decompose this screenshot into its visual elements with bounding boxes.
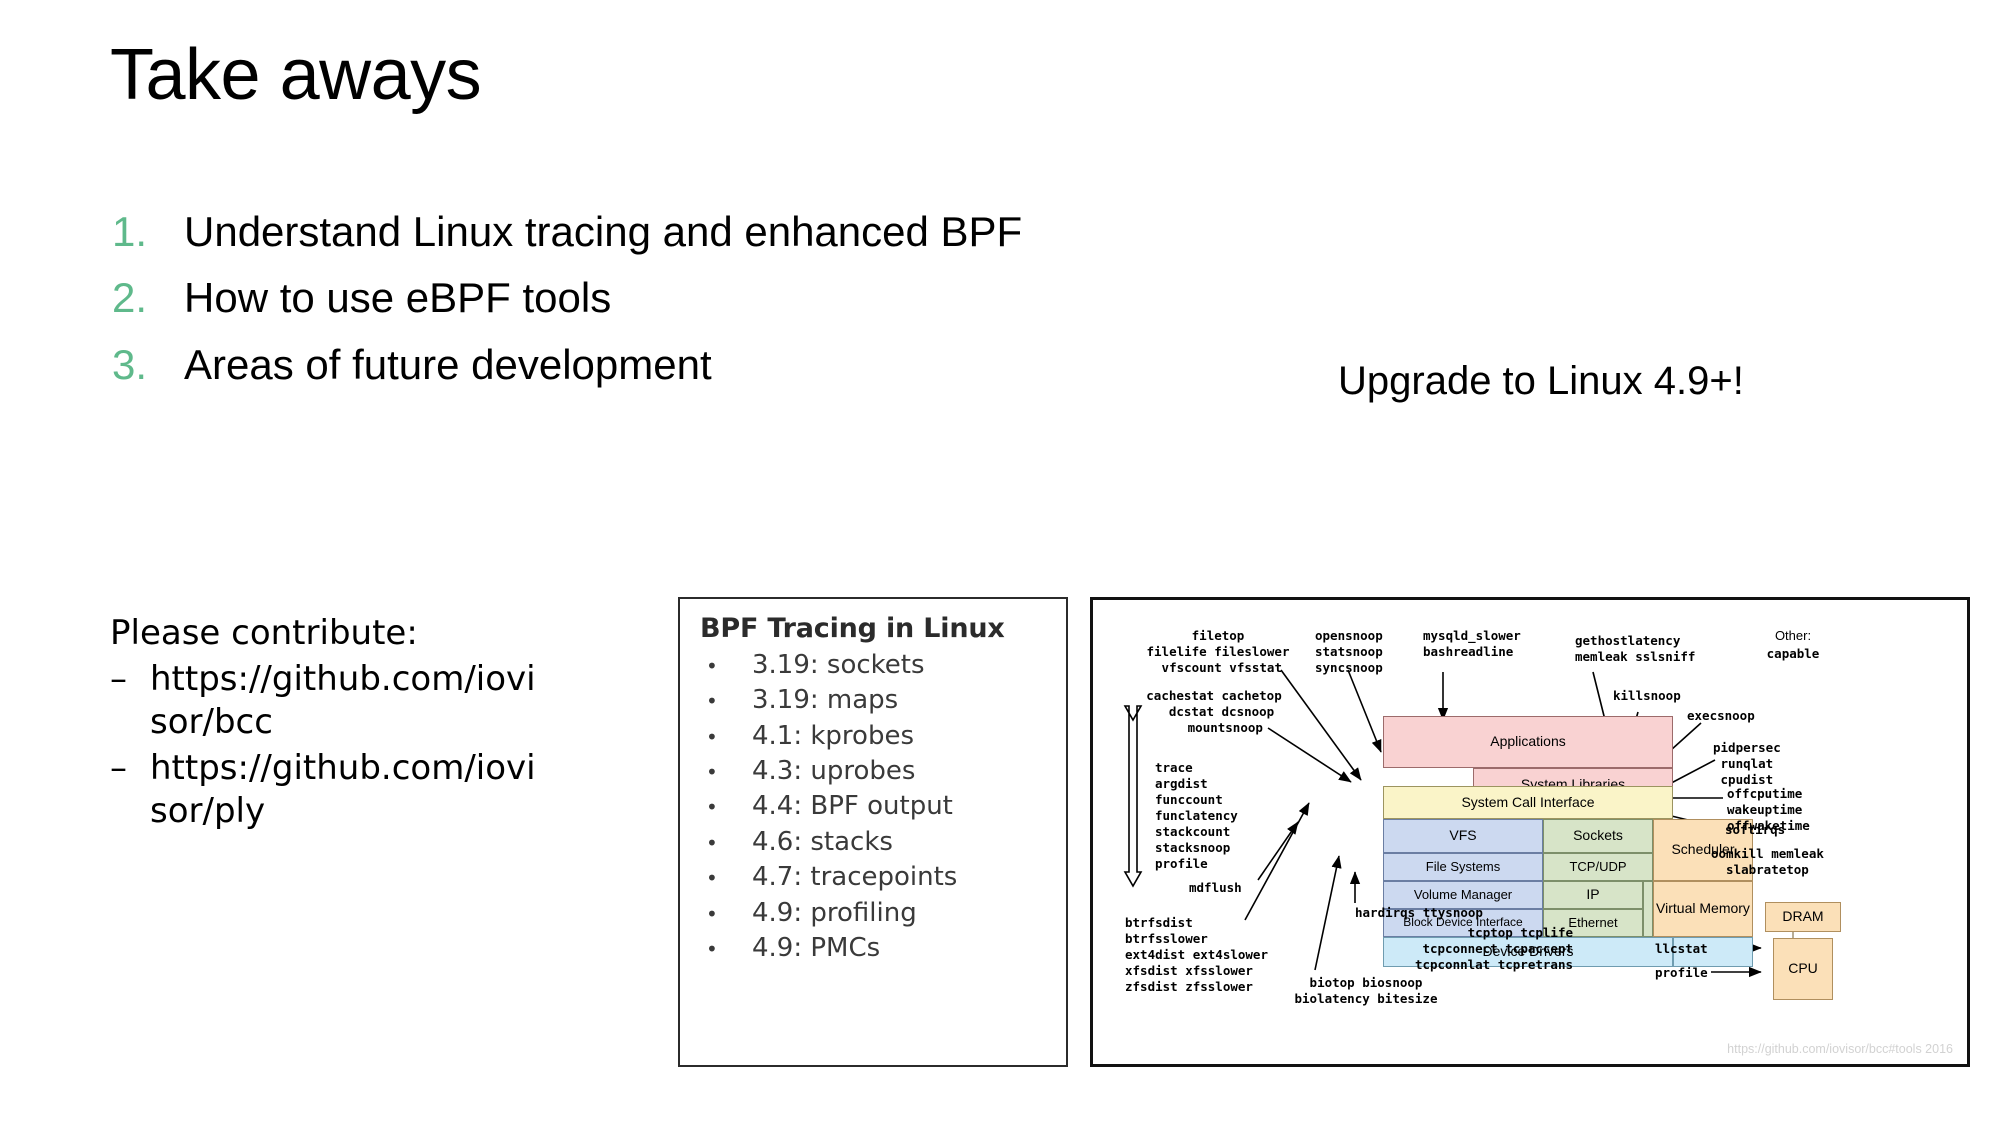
takeaway-number: 2. [112,274,184,322]
tool-group-tcp: tcptop tcplife tcpconnect tcpaccept tcpc… [1393,925,1573,973]
takeaways-list: 1. Understand Linux tracing and enhanced… [112,208,1312,407]
tool-group-filesystems: btrfsdist btrfsslower ext4dist ext4slowe… [1125,915,1268,995]
dash-bullet-icon: – [110,658,150,702]
takeaway-item: 3. Areas of future development [112,341,1312,389]
dash-bullet-icon: – [110,747,150,791]
kernel-block-sockets: Sockets [1543,819,1653,853]
contribute-block: Please contribute: – https://github.com/… [110,612,580,834]
bpf-list-item: • 4.4: BPF output [700,789,1048,824]
tool-group-scheduler: pidpersec runqlat cpudist [1713,740,1781,788]
tool-killsnoop: killsnoop [1613,688,1681,704]
tool-group-applications: mysqld_slower bashreadline [1423,628,1521,660]
bpf-list-item: • 3.19: maps [700,683,1048,718]
contribute-link[interactable]: https://github.com/iovisor/bcc [150,658,550,745]
tool-execsnoop: execsnoop [1687,708,1755,724]
kernel-block-tcp-udp: TCP/UDP [1543,853,1653,881]
contribute-item: – https://github.com/iovisor/bcc [110,658,580,745]
bpf-list-item: • 4.9: PMCs [700,931,1048,966]
tool-mdflush: mdflush [1189,880,1242,896]
bpf-list-item: • 4.6: stacks [700,825,1048,860]
takeaway-label: How to use eBPF tools [184,274,611,322]
kernel-block-virtual-memory: Virtual Memory [1653,881,1753,937]
bullet-icon: • [700,724,752,751]
tool-group-blockio: biotop biosnoop biolatency bitesize [1271,975,1461,1007]
bpf-tracing-box: BPF Tracing in Linux • 3.19: sockets • 3… [678,597,1068,1067]
contribute-link[interactable]: https://github.com/iovisor/ply [150,747,550,834]
bpf-item-label: 4.1: kprobes [752,719,914,754]
takeaway-label: Understand Linux tracing and enhanced BP… [184,208,1022,256]
bpf-item-label: 3.19: sockets [752,648,925,683]
tool-group-vfs: filetop filelife fileslower vfscount vfs… [1123,628,1313,676]
bullet-icon: • [700,653,752,680]
bpf-item-label: 4.9: profiling [752,896,917,931]
bpf-item-label: 4.7: tracepoints [752,860,957,895]
bullet-icon: • [700,759,752,786]
tool-group-dynamic-tracing: trace argdist funccount funclatency stac… [1155,760,1238,872]
contribute-heading: Please contribute: [110,612,580,656]
page-title: Take aways [110,38,481,114]
tool-group-cache: cachestat cachetop dcstat dcsnoop mounts… [1119,688,1309,736]
kernel-block-ip: IP [1543,881,1643,909]
takeaway-item: 2. How to use eBPF tools [112,274,1312,322]
bpf-list-item: • 4.1: kprobes [700,719,1048,754]
bpf-list-item: • 3.19: sockets [700,648,1048,683]
kernel-block-applications: Applications [1383,716,1673,768]
bullet-icon: • [700,688,752,715]
takeaway-item: 1. Understand Linux tracing and enhanced… [112,208,1312,256]
takeaway-number: 3. [112,341,184,389]
tool-group-irq: hardirqs ttysnoop [1355,905,1483,921]
takeaway-number: 1. [112,208,184,256]
bpf-item-label: 3.19: maps [752,683,898,718]
bpf-item-label: 4.4: BPF output [752,789,953,824]
bpf-list-item: • 4.9: profiling [700,896,1048,931]
tool-softirqs: softirqs [1725,822,1785,838]
kernel-block-system-call-interface: System Call Interface [1383,786,1673,819]
upgrade-note: Upgrade to Linux 4.9+! [1338,358,1744,404]
bullet-icon: • [700,865,752,892]
bcc-tools-diagram: Applications System Libraries System Cal… [1090,597,1970,1067]
bpf-item-label: 4.6: stacks [752,825,893,860]
tool-group-memory: oomkill memleak slabratetop [1711,846,1824,878]
kernel-block-net-spacer [1643,881,1653,937]
bpf-list-item: • 4.3: uprobes [700,754,1048,789]
tool-group-syscall: opensnoop statsnoop syncsnoop [1315,628,1383,676]
contribute-item: – https://github.com/iovisor/ply [110,747,580,834]
kernel-block-vfs: VFS [1383,819,1543,853]
bullet-icon: • [700,936,752,963]
tool-capable: capable [1743,646,1843,662]
diagram-attribution: https://github.com/iovisor/bcc#tools 201… [1727,1042,1953,1056]
bullet-icon: • [700,794,752,821]
bullet-icon: • [700,830,752,857]
hardware-block-dram: DRAM [1765,902,1841,932]
slide-canvas: Take aways 1. Understand Linux tracing a… [0,0,1998,1125]
bullet-icon: • [700,901,752,928]
hardware-block-cpu: CPU [1773,938,1833,1000]
takeaway-label: Areas of future development [184,341,712,389]
other-label: Other: [1753,628,1833,645]
bpf-list-item: • 4.7: tracepoints [700,860,1048,895]
tool-llcstat: llcstat [1655,941,1708,957]
bpf-item-label: 4.3: uprobes [752,754,915,789]
tool-group-libraries: gethostlatency memleak sslsniff [1575,633,1695,665]
bpf-box-title: BPF Tracing in Linux [700,613,1048,644]
tool-profile: profile [1655,965,1708,981]
kernel-block-file-systems: File Systems [1383,853,1543,881]
bpf-item-label: 4.9: PMCs [752,931,880,966]
